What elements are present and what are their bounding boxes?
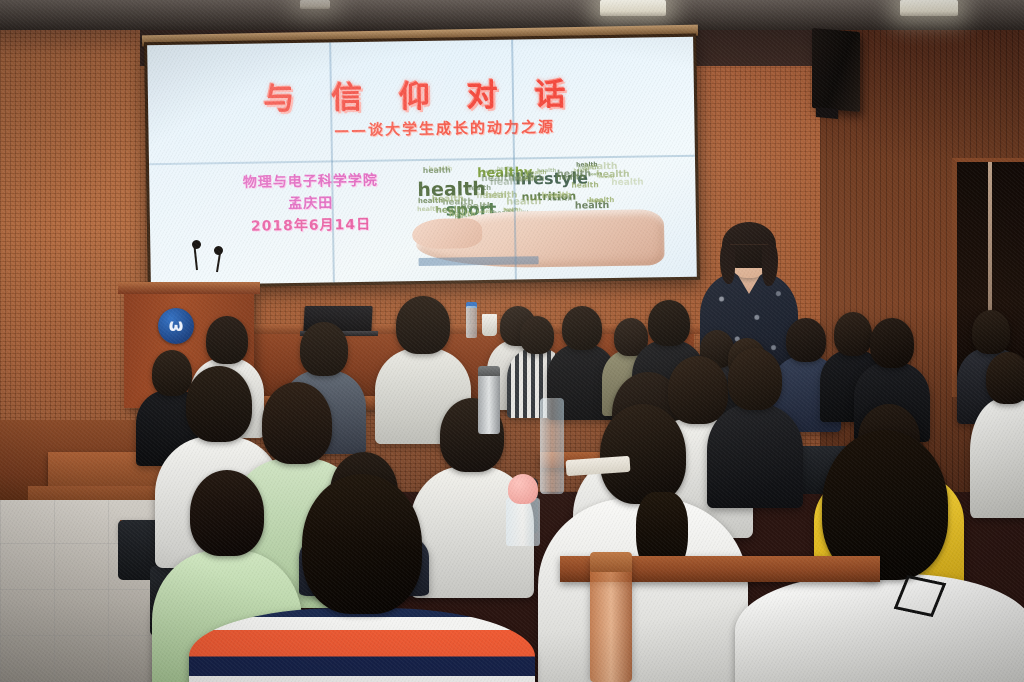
word-cloud-term: health	[460, 201, 493, 213]
pa-speaker-bracket	[816, 107, 838, 119]
glasses-icon	[730, 244, 768, 253]
audience-head	[302, 474, 422, 614]
audience-head	[396, 296, 450, 354]
audience-head	[972, 310, 1010, 354]
pink-bottle-cap-icon	[508, 474, 538, 504]
lecture-hall-photo: 与 信 仰 对 话 ——谈大学生成长的动力之源 物理与电子科学学院 孟庆田 20…	[0, 0, 1024, 682]
audience-head	[520, 316, 554, 354]
paper-cup	[482, 314, 497, 336]
word-cloud-term: health	[490, 177, 524, 189]
audience-head	[562, 306, 602, 350]
audience-torso	[735, 574, 1024, 682]
audience-torso	[970, 398, 1024, 518]
audience-head	[186, 366, 252, 442]
slide-title: 与 信 仰 对 话	[148, 67, 695, 121]
slide-artwork: healthhealthylifestylenutritionsportheal…	[411, 157, 681, 271]
amber-glass-bottle	[590, 558, 632, 682]
word-cloud-term: health	[611, 178, 644, 189]
bottle-cap-icon	[590, 552, 632, 572]
ceiling-light-panel	[300, 0, 330, 9]
audience-head	[986, 352, 1024, 404]
word-cloud-term: health	[537, 168, 556, 174]
presentation-screen: 与 信 仰 对 话 ——谈大学生成长的动力之源 物理与电子科学学院 孟庆田 20…	[147, 37, 697, 286]
word-cloud-term: health	[423, 165, 451, 174]
word-cloud-term: health	[547, 194, 572, 202]
audience-torso	[707, 404, 803, 508]
microphone-head-icon	[192, 240, 201, 249]
audience-head	[600, 404, 686, 504]
hand-fingers	[412, 218, 482, 249]
audience-head	[668, 356, 728, 424]
slide-date: 2018年6月14日	[196, 213, 426, 239]
audience-head	[300, 322, 348, 376]
video-wall-frame: 与 信 仰 对 话 ——谈大学生成长的动力之源 物理与电子科学学院 孟庆田 20…	[144, 34, 700, 289]
pink-capped-bottle	[506, 498, 540, 546]
emblem-glyph: ω	[158, 308, 194, 344]
podium-top-edge	[118, 282, 260, 294]
audience-head	[648, 300, 690, 346]
word-cloud-term: health	[482, 170, 498, 175]
word-cloud-term: health	[589, 196, 614, 204]
word-cloud-term: health	[432, 195, 465, 206]
steel-thermos	[478, 372, 500, 434]
word-cloud-term: health	[571, 180, 598, 189]
audience-head	[152, 350, 192, 396]
audience-head	[870, 318, 914, 368]
ceiling-light-panel	[600, 0, 666, 16]
pa-speaker-icon	[812, 28, 860, 112]
ceiling	[0, 0, 1024, 30]
thermos-lid	[478, 366, 500, 376]
audience-head	[728, 348, 782, 410]
slide-credits: 物理与电子科学学院 孟庆田 2018年6月14日	[195, 169, 426, 239]
ceiling-light-panel	[900, 0, 958, 16]
audience-head	[834, 312, 872, 356]
water-bottle	[466, 306, 477, 338]
microphone-head-icon	[214, 246, 223, 255]
audience-head	[206, 316, 248, 364]
clear-water-bottle	[540, 398, 564, 494]
word-cloud-term: health	[584, 161, 618, 173]
audience-head	[190, 470, 264, 556]
university-emblem-icon: ω	[158, 308, 194, 344]
audience-head	[262, 382, 332, 464]
audience-torso	[189, 608, 535, 682]
audience-head	[786, 318, 826, 362]
